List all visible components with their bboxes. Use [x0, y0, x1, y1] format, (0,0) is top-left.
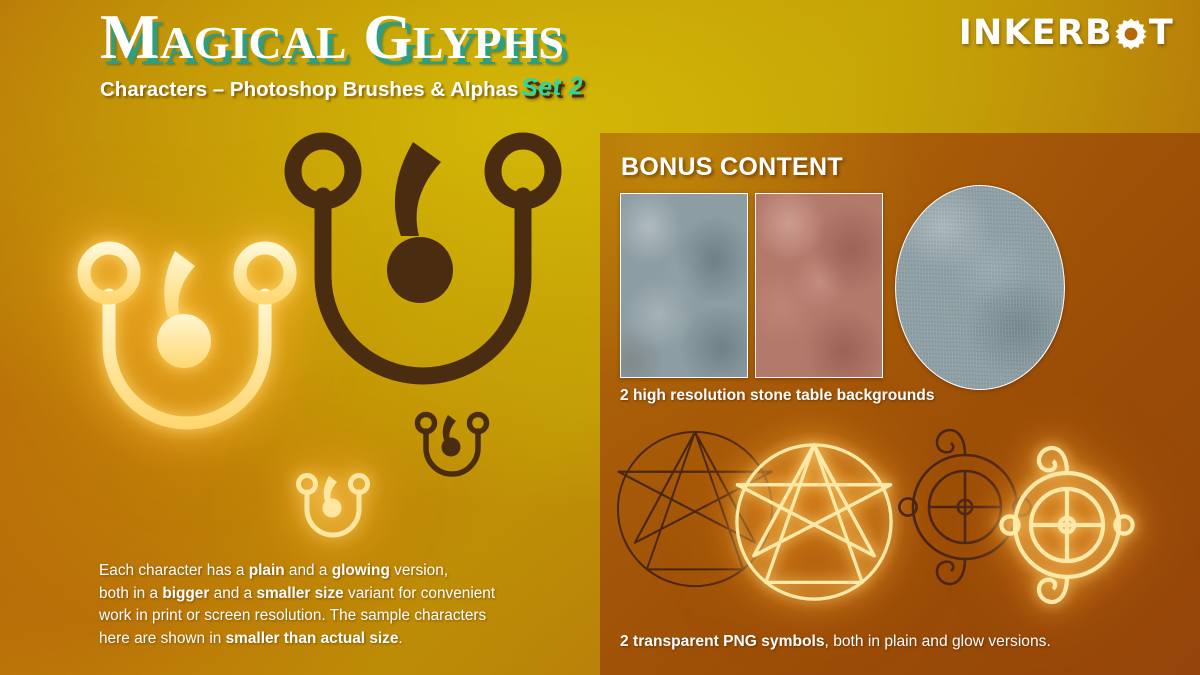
body-copy-line-3: work in print or screen resolution. The … [99, 605, 599, 628]
bc-1e: version, [390, 562, 448, 579]
title-part-3: LYPHS [413, 17, 565, 68]
bc-2c: and a [209, 585, 256, 602]
caption-png-bold: 2 transparent PNG symbols [620, 633, 825, 650]
set-badge: Set 2 [521, 72, 584, 103]
bc-1b: plain [249, 562, 285, 579]
bonus-content-panel: BONUS CONTENT 2 high resolution stone ta… [600, 133, 1200, 675]
caption-png-symbols: 2 transparent PNG symbols, both in plain… [620, 633, 1051, 651]
page-title: MAGICAL GLYPHS [100, 6, 564, 69]
body-copy-line-1: Each character has a plain and a glowing… [99, 560, 599, 583]
heptagram-glow [732, 440, 896, 604]
gear-icon [1115, 18, 1147, 50]
glyph-large-plain [281, 130, 566, 430]
bc-2a: both in a [99, 585, 162, 602]
body-copy-line-4: here are shown in smaller than actual si… [99, 628, 599, 651]
glyph-small-glow [291, 470, 375, 552]
subtitle: Characters – Photoshop Brushes & Alphas [100, 78, 518, 102]
title-part-2: G [347, 2, 413, 72]
logo-text-part1: INKERB [959, 16, 1113, 51]
bc-2d: smaller size [256, 585, 343, 602]
body-copy: Each character has a plain and a glowing… [99, 560, 599, 651]
bc-1a: Each character has a [99, 562, 249, 579]
caption-png-rest: , both in plain and glow versions. [825, 633, 1051, 650]
glyph-small-plain [410, 409, 494, 491]
bc-1d: glowing [332, 562, 390, 579]
brand-logo: INKERB T [959, 16, 1174, 51]
sun-wheel-glow [1002, 435, 1132, 627]
title-part-0: M [100, 2, 160, 72]
symbol-showcase [600, 415, 1200, 630]
header: MAGICAL GLYPHS Characters – Photoshop Br… [0, 0, 1200, 133]
bc-2e: variant for convenient [344, 585, 495, 602]
stone-texture-circle [895, 185, 1065, 390]
glyph-large-glow [62, 233, 312, 478]
logo-text-part2: T [1149, 16, 1174, 51]
bc-2b: bigger [162, 585, 209, 602]
stone-texture-rose [755, 193, 883, 378]
poster-canvas: MAGICAL GLYPHS Characters – Photoshop Br… [0, 0, 1200, 675]
bc-1c: and a [285, 562, 332, 579]
caption-backgrounds: 2 high resolution stone table background… [620, 387, 935, 405]
bonus-title: BONUS CONTENT [621, 153, 843, 182]
body-copy-line-2: both in a bigger and a smaller size vari… [99, 583, 599, 606]
bc-4c: . [398, 630, 402, 647]
stone-texture-blue [620, 193, 748, 378]
bc-4a: here are shown in [99, 630, 226, 647]
glyph-showcase [0, 118, 600, 558]
bc-4b: smaller than actual size [226, 630, 399, 647]
title-part-1: AGICAL [160, 17, 347, 68]
